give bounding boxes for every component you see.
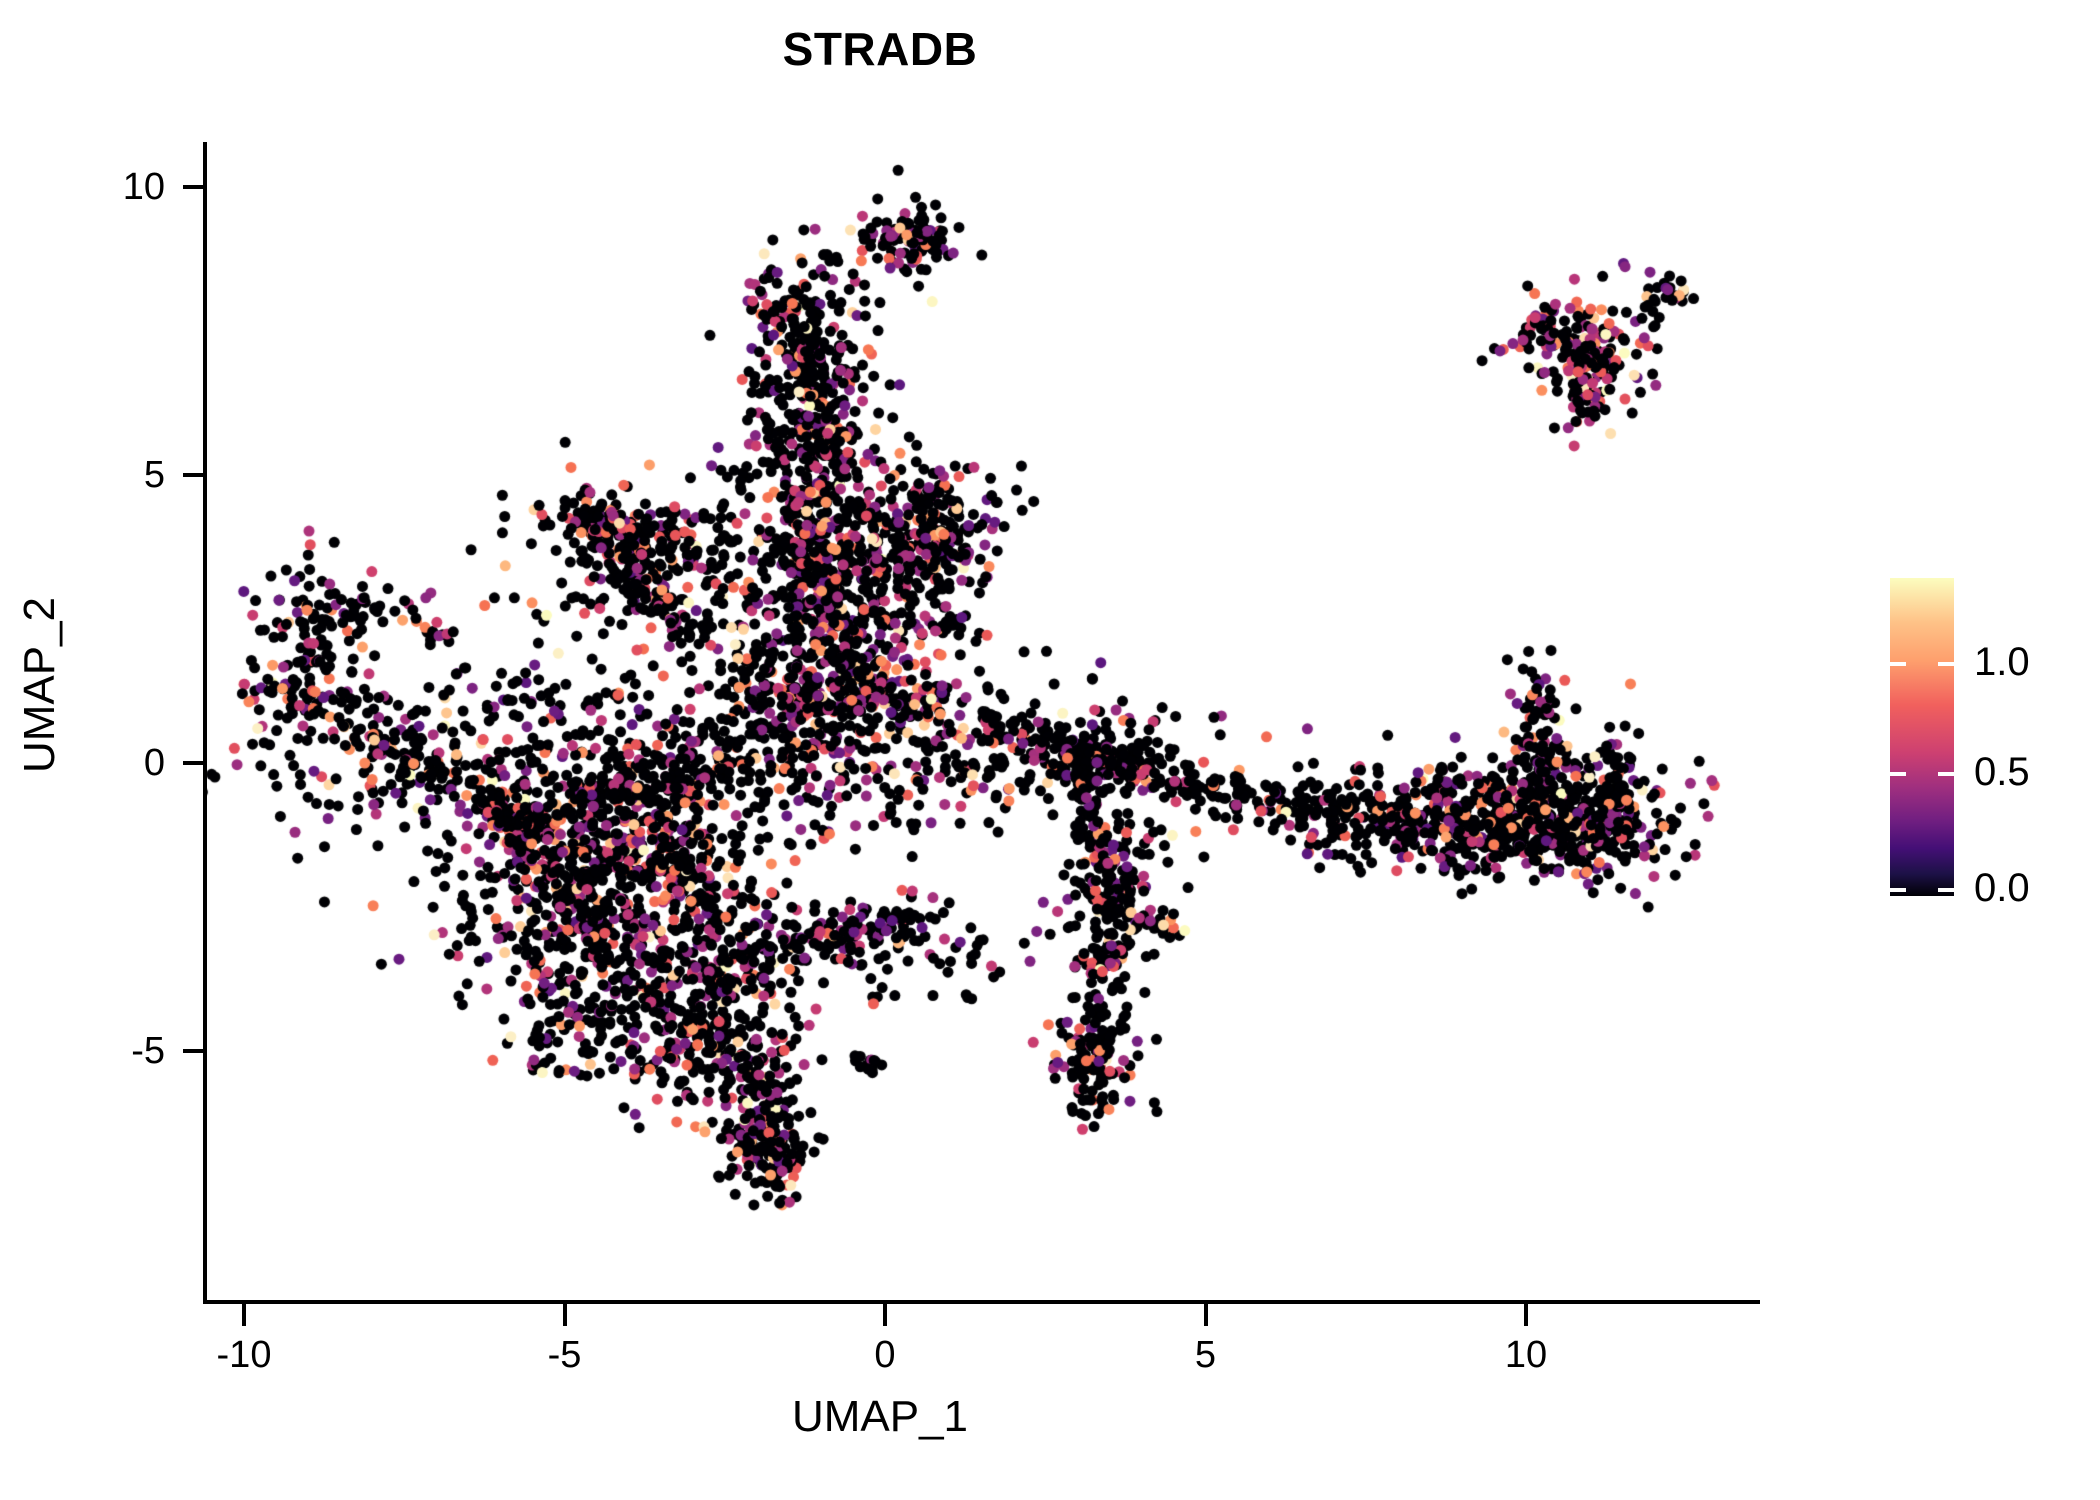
y-tick-label: 0 (95, 744, 165, 782)
y-tick-label: 10 (95, 168, 165, 206)
x-tick-label: 5 (1136, 1336, 1276, 1374)
colorbar-label-low: 0.0 (1974, 868, 2094, 908)
y-tick-mark (183, 185, 205, 189)
colorbar-tick-2 (1890, 772, 1906, 776)
y-axis-line (203, 142, 207, 1304)
umap-feature-plot: STRADB 1050-5 -10-50510 UMAP_1 UMAP_2 1.… (0, 0, 2100, 1500)
page-title: STRADB (0, 22, 1760, 76)
colorbar-label-high: 1.0 (1974, 642, 2094, 682)
y-tick-mark (183, 473, 205, 477)
colorbar-tick-3 (1890, 888, 1906, 892)
colorbar-tick-1 (1890, 662, 1906, 666)
colorbar-tick-1b (1938, 662, 1954, 666)
x-tick-label: -10 (174, 1336, 314, 1374)
x-axis-title: UMAP_1 (0, 1392, 1760, 1442)
x-tick-mark (1524, 1304, 1528, 1326)
x-tick-label: -5 (495, 1336, 635, 1374)
y-axis-title: UMAP_2 (15, 335, 65, 1035)
y-tick-mark (183, 1049, 205, 1053)
scatter-points-layer (205, 142, 1760, 1302)
colorbar-tick-2b (1938, 772, 1954, 776)
x-tick-label: 10 (1456, 1336, 1596, 1374)
x-tick-label: 0 (815, 1336, 955, 1374)
y-tick-mark (183, 761, 205, 765)
colorbar-tick-3b (1938, 888, 1954, 892)
y-tick-label: 5 (95, 456, 165, 494)
colorbar-label-mid: 0.5 (1974, 752, 2094, 792)
scatter-plot-panel (205, 142, 1760, 1302)
x-tick-mark (242, 1304, 246, 1326)
x-tick-mark (1204, 1304, 1208, 1326)
colorbar-gradient (1890, 578, 1954, 896)
x-tick-mark (563, 1304, 567, 1326)
y-tick-label: -5 (95, 1032, 165, 1070)
x-tick-mark (883, 1304, 887, 1326)
